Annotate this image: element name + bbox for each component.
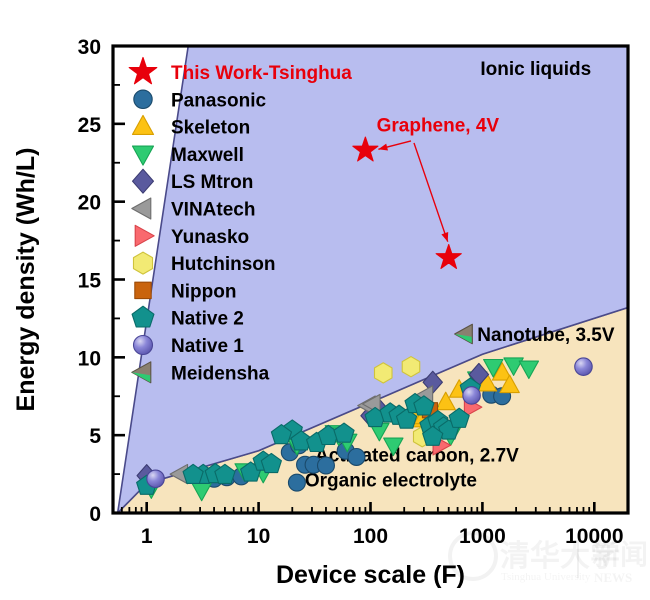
region-label-ionic-liquids: Ionic liquids bbox=[480, 59, 591, 80]
region-label-organic-electrolyte: Organic electrolyte bbox=[305, 471, 477, 492]
y-tick-label: 20 bbox=[78, 192, 101, 215]
legend-label: LS Mtron bbox=[171, 172, 253, 193]
legend-label: Panasonic bbox=[171, 90, 266, 111]
energy-density-scatter-chart: Ionic liquidsActivated carbon, 2.7VOrgan… bbox=[0, 0, 650, 600]
data-point bbox=[318, 457, 335, 474]
legend-label: Native 1 bbox=[171, 336, 244, 357]
region-layer bbox=[118, 46, 628, 513]
legend-label: Skeleton bbox=[171, 118, 250, 139]
legend-label: Yunasko bbox=[171, 227, 249, 248]
y-tick-label: 0 bbox=[89, 503, 101, 526]
y-tick-label: 5 bbox=[89, 425, 101, 448]
data-point bbox=[402, 357, 420, 377]
legend-marker-square bbox=[135, 282, 151, 298]
annotation-nanotube: Nanotube, 3.5V bbox=[477, 325, 615, 346]
y-tick-label: 30 bbox=[78, 36, 101, 59]
data-point bbox=[463, 387, 480, 404]
data-point bbox=[374, 363, 392, 383]
legend-item-vinatech[interactable]: VINAtech bbox=[132, 198, 256, 221]
legend-marker-circle bbox=[134, 90, 152, 108]
data-point bbox=[575, 358, 592, 375]
y-tick-label: 10 bbox=[78, 347, 101, 370]
legend-label: Native 2 bbox=[171, 309, 244, 330]
legend-label: This Work-Tsinghua bbox=[171, 63, 352, 84]
watermark-news-en: NEWS bbox=[594, 570, 632, 585]
legend-label: Maxwell bbox=[171, 145, 244, 166]
y-axis-title: Energy density (Wh/L) bbox=[12, 148, 40, 412]
legend-label: Nippon bbox=[171, 281, 236, 302]
data-point bbox=[147, 470, 164, 487]
chart-figure: Ionic liquidsActivated carbon, 2.7VOrgan… bbox=[0, 0, 650, 600]
watermark-news-cn: 新闻 bbox=[592, 539, 648, 571]
legend-label: Hutchinson bbox=[171, 254, 276, 275]
y-tick-label: 25 bbox=[78, 114, 102, 137]
data-point bbox=[288, 474, 305, 491]
legend-label: Meidensha bbox=[171, 363, 270, 384]
legend-marker-hexagon bbox=[133, 252, 152, 274]
legend-marker-sphere bbox=[134, 336, 153, 355]
x-tick-label: 1 bbox=[141, 525, 153, 548]
annotation-graphene: Graphene, 4V bbox=[377, 116, 500, 137]
x-tick-label: 100 bbox=[353, 525, 388, 548]
data-point bbox=[348, 448, 365, 465]
y-tick-label: 15 bbox=[78, 270, 102, 293]
x-axis-title: Device scale (F) bbox=[276, 561, 465, 589]
legend-label: VINAtech bbox=[171, 200, 255, 221]
x-tick-label: 10 bbox=[247, 525, 270, 548]
